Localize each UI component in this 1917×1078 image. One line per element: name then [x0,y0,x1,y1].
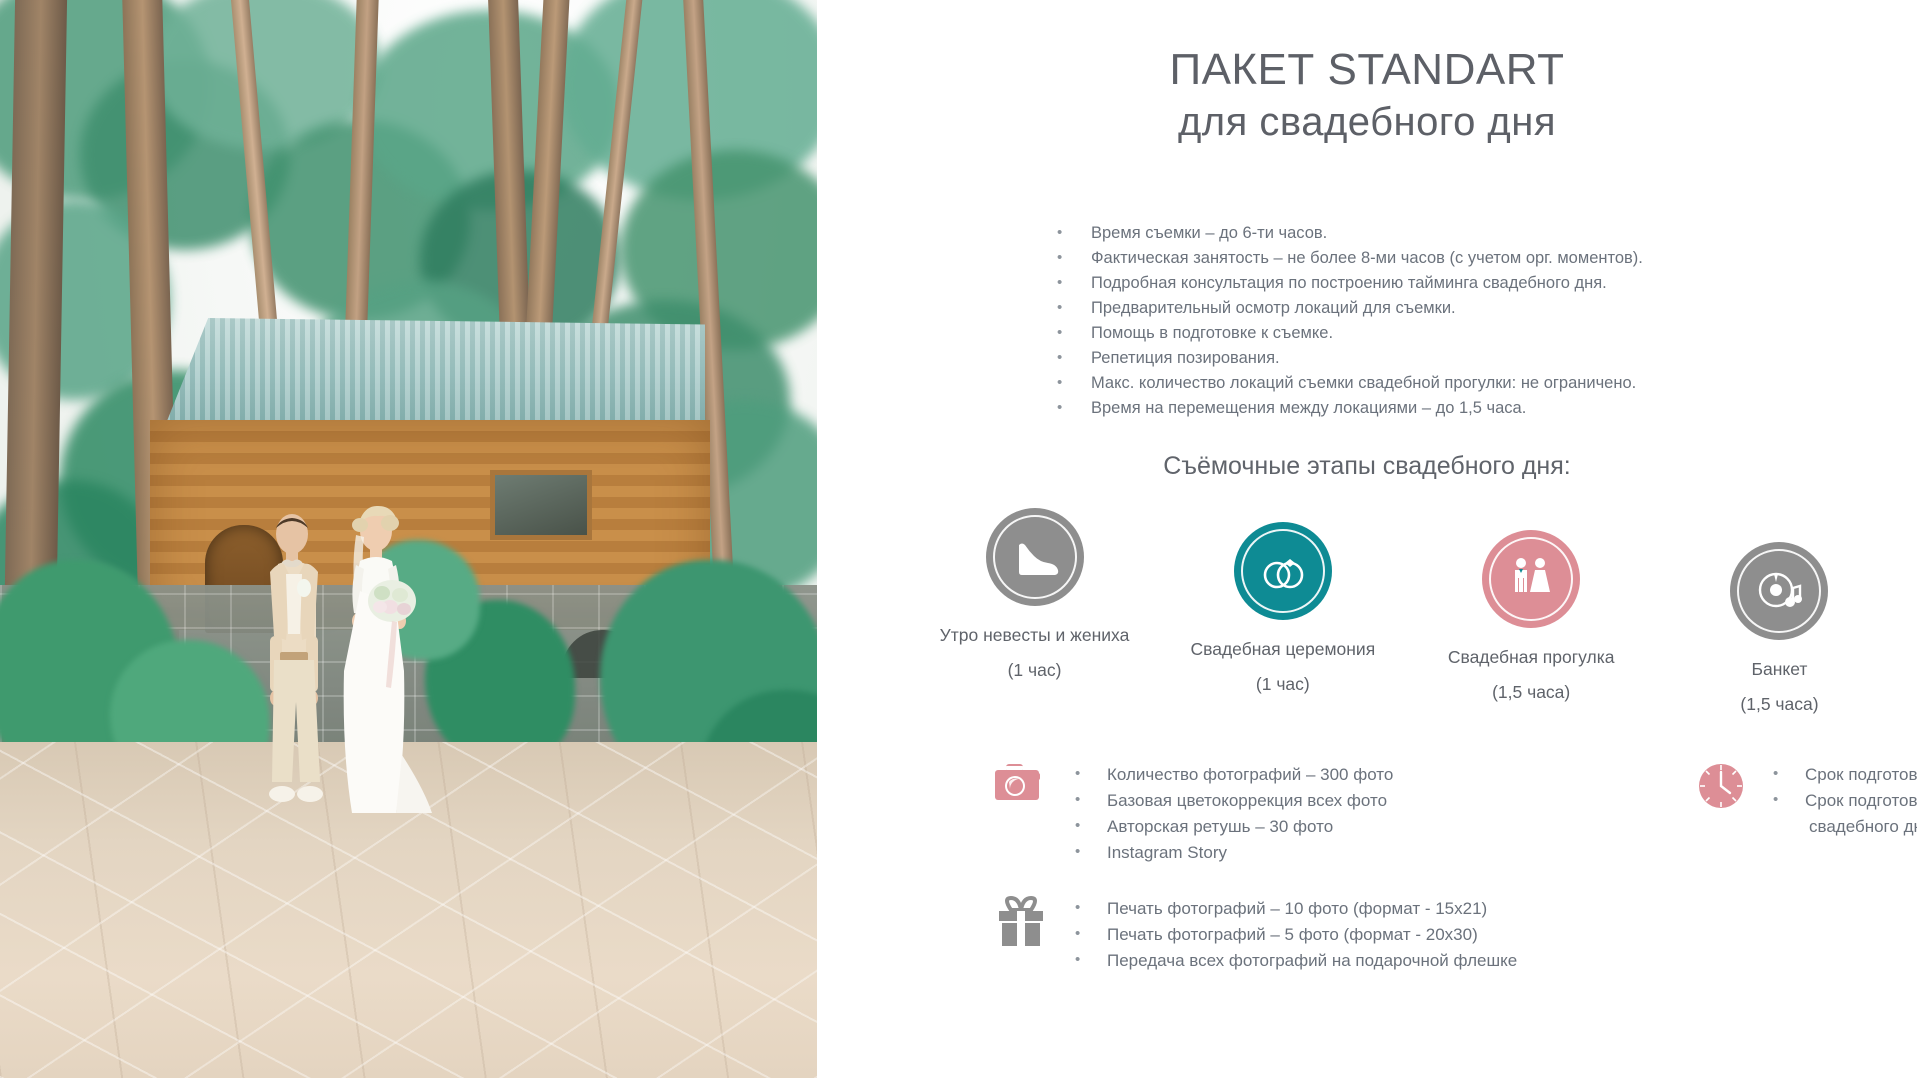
list-item: Instagram Story [1063,840,1393,866]
house-roof [165,318,705,426]
feature-item: Предварительный осмотр локаций для съемк… [1047,296,1747,321]
house-window [490,470,592,540]
bride-figure [330,505,440,825]
feature-item: Время на перемещения между локациями – д… [1047,396,1747,421]
slide-standard-package: ПАКЕТ STANDART для свадебного дня Время … [0,0,1917,1078]
feature-item: Подробная консультация по построению тай… [1047,271,1747,296]
deliverables-section: Количество фотографий – 300 фотоБазовая … [817,762,1917,1042]
stage-name: Утро невесты и жениха [917,622,1152,648]
title-line-1: ПАКЕТ STANDART [817,42,1917,97]
page-title: ПАКЕТ STANDART для свадебного дня [817,42,1917,147]
stage-name: Свадебная церемония [1165,636,1400,662]
title-line-2: для свадебного дня [817,97,1917,147]
deliverable-terms: Срок подготовки фото – 16 недельСрок под… [1697,762,1917,840]
stage-banquet[interactable]: Банкет (1,5 часа) [1662,542,1897,715]
stage-bride-groom-morning[interactable]: Утро невесты и жениха (1 час) [917,508,1152,715]
stage-wedding-ceremony[interactable]: Свадебная церемония (1 час) [1165,522,1400,715]
gift-item-list: Печать фотографий – 10 фото (формат - 15… [1063,896,1517,974]
deliverable-gift: Печать фотографий – 10 фото (формат - 15… [995,896,1517,974]
high-heel-shoe-icon [1009,531,1061,583]
list-item: Печать фотографий – 10 фото (формат - 15… [1063,896,1517,922]
feature-item: Помощь в подготовке к съемке. [1047,321,1747,346]
list-item: Срок подготовки фото – 16 недель [1761,762,1917,788]
feature-list: Время съемки – до 6-ти часов.Фактическая… [1007,221,1747,421]
bride-groom-couple-icon [1506,554,1556,604]
stage-wedding-walk[interactable]: Свадебная прогулка (1,5 часа) [1414,530,1649,715]
stages-heading: Съёмочные этапы свадебного дня: [817,452,1917,481]
stage-duration: (1,5 часа) [1414,682,1649,703]
stage-circle-3 [1482,530,1580,628]
photos-item-list: Количество фотографий – 300 фотоБазовая … [1063,762,1393,866]
stage-circle-2 [1234,522,1332,620]
list-item: Срок подготовки первого превью [1761,788,1917,814]
list-item: Передача всех фотографий на подарочной ф… [1063,948,1517,974]
wedding-rings-icon [1257,545,1309,597]
stage-name: Свадебная прогулка [1414,644,1649,670]
camera-icon [995,762,1047,809]
list-item: Количество фотографий – 300 фото [1063,762,1393,788]
stage-circle-4 [1730,542,1828,640]
stage-duration: (1 час) [917,660,1152,681]
gift-box-icon [995,896,1047,953]
list-item: Печать фотографий – 5 фото (формат - 20x… [1063,922,1517,948]
groom-figure [248,512,340,812]
clock-icon [1697,762,1745,815]
package-content-panel: ПАКЕТ STANDART для свадебного дня Время … [817,0,1917,1078]
stage-circle-1 [986,508,1084,606]
list-item: Базовая цветокоррекция всех фото [1063,788,1393,814]
vinyl-record-music-icon [1754,566,1804,616]
wedding-couple-photo [0,0,817,1078]
stage-name: Банкет [1662,656,1897,682]
feature-item: Репетиция позирования. [1047,346,1747,371]
stage-duration: (1,5 часа) [1662,694,1897,715]
stages-row: Утро невесты и жениха (1 час) Свадебная … [917,508,1897,715]
terms-item-list: Срок подготовки фото – 16 недельСрок под… [1761,762,1917,840]
list-item: Авторская ретушь – 30 фото [1063,814,1393,840]
deliverable-photos: Количество фотографий – 300 фотоБазовая … [995,762,1393,866]
list-item: свадебного дня – 2 недели [1761,814,1917,840]
feature-item: Макс. количество локаций съемки свадебно… [1047,371,1747,396]
stage-duration: (1 час) [1165,674,1400,695]
feature-item: Фактическая занятость – не более 8-ми ча… [1047,246,1747,271]
feature-item: Время съемки – до 6-ти часов. [1047,221,1747,246]
